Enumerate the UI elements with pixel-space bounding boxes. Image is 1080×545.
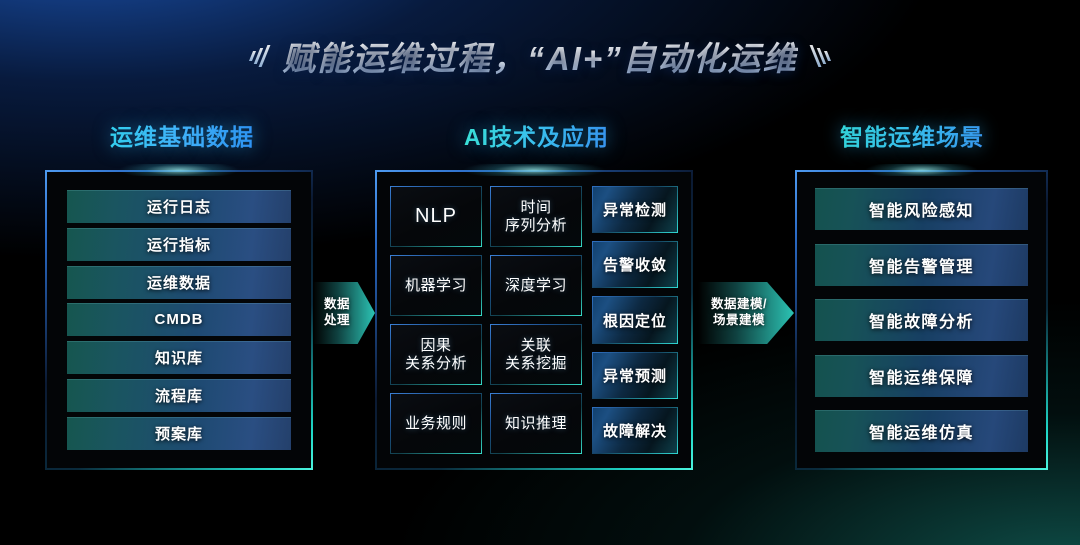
ai-technique-grid: NLP 时间 序列分析 机器学习 深度学习 因果 关系分析 关联 关系挖掘 业务…: [390, 186, 582, 454]
capability-label: 异常检测: [603, 199, 667, 220]
technique-label: 业务规则: [405, 415, 467, 433]
technique-cell[interactable]: 因果 关系分析: [390, 324, 482, 385]
technique-label: 时间 序列分析: [505, 199, 567, 234]
list-item[interactable]: 运行日志: [67, 190, 291, 223]
scenario-label: 智能故障分析: [869, 308, 974, 332]
scenario-label: 智能风险感知: [869, 197, 974, 221]
ai-tech-content: NLP 时间 序列分析 机器学习 深度学习 因果 关系分析 关联 关系挖掘 业务…: [390, 186, 678, 454]
capability-item[interactable]: 告警收敛: [592, 241, 678, 288]
column-heading-left: 运维基础数据: [110, 118, 254, 152]
technique-label: 关联 关系挖掘: [505, 337, 567, 372]
list-item[interactable]: 预案库: [67, 417, 291, 450]
technique-label: 因果 关系分析: [405, 337, 467, 372]
column-heading-left-label: 运维基础数据: [110, 124, 254, 150]
column-heading-right: 智能运维场景: [840, 118, 984, 152]
page-title: 赋能运维过程，“AI+”自动化运维: [282, 32, 797, 80]
panel-ai-tech: NLP 时间 序列分析 机器学习 深度学习 因果 关系分析 关联 关系挖掘 业务…: [375, 170, 693, 470]
column-heading-middle-label: AI技术及应用: [464, 124, 609, 150]
column-heading-right-label: 智能运维场景: [840, 124, 984, 150]
connector-label: 数据建模/ 场景建模: [711, 297, 781, 328]
capability-item[interactable]: 根因定位: [592, 296, 678, 343]
slide-canvas: 赋能运维过程，“AI+”自动化运维 运维基础数据 AI技术及应用 智能运维场景 …: [0, 0, 1080, 545]
scenario-item[interactable]: 智能运维仿真: [815, 410, 1028, 452]
list-item[interactable]: 知识库: [67, 341, 291, 374]
list-item-label: 流程库: [155, 385, 203, 406]
capability-item[interactable]: 异常检测: [592, 186, 678, 233]
scenario-label: 智能运维仿真: [869, 419, 974, 443]
aiops-scenario-list: 智能风险感知 智能告警管理 智能故障分析 智能运维保障 智能运维仿真: [815, 188, 1028, 452]
list-item-label: 预案库: [155, 423, 203, 444]
technique-cell[interactable]: NLP: [390, 186, 482, 247]
technique-label: 深度学习: [505, 277, 567, 295]
technique-cell[interactable]: 知识推理: [490, 393, 582, 454]
capability-item[interactable]: 故障解决: [592, 407, 678, 454]
list-item-label: 运行指标: [147, 234, 211, 255]
technique-label: 机器学习: [405, 277, 467, 295]
list-item-label: 运行日志: [147, 196, 211, 217]
panel-ops-base-data: 运行日志 运行指标 运维数据 CMDB 知识库 流程库 预案库: [45, 170, 313, 470]
technique-cell[interactable]: 关联 关系挖掘: [490, 324, 582, 385]
list-item[interactable]: 流程库: [67, 379, 291, 412]
panel-middle-inner: NLP 时间 序列分析 机器学习 深度学习 因果 关系分析 关联 关系挖掘 业务…: [377, 172, 691, 468]
title-right-decoration-icon: [814, 45, 829, 67]
scenario-item[interactable]: 智能故障分析: [815, 299, 1028, 341]
capability-label: 异常预测: [603, 365, 667, 386]
technique-cell[interactable]: 机器学习: [390, 255, 482, 316]
scenario-label: 智能运维保障: [869, 364, 974, 388]
technique-cell[interactable]: 业务规则: [390, 393, 482, 454]
ai-capability-list: 异常检测 告警收敛 根因定位 异常预测 故障解决: [592, 186, 678, 454]
technique-cell[interactable]: 时间 序列分析: [490, 186, 582, 247]
list-item-label: CMDB: [155, 311, 204, 328]
list-item[interactable]: CMDB: [67, 303, 291, 336]
slide-title-row: 赋能运维过程，“AI+”自动化运维: [0, 28, 1080, 84]
list-item-label: 运维数据: [147, 272, 211, 293]
scenario-item[interactable]: 智能告警管理: [815, 244, 1028, 286]
title-left-decoration-icon: [251, 45, 266, 67]
panel-aiops-scenarios: 智能风险感知 智能告警管理 智能故障分析 智能运维保障 智能运维仿真: [795, 170, 1048, 470]
scenario-label: 智能告警管理: [869, 253, 974, 277]
capability-label: 告警收敛: [603, 254, 667, 275]
scenario-item[interactable]: 智能运维保障: [815, 355, 1028, 397]
panel-right-inner: 智能风险感知 智能告警管理 智能故障分析 智能运维保障 智能运维仿真: [797, 172, 1046, 468]
capability-label: 故障解决: [603, 420, 667, 441]
technique-label: NLP: [415, 205, 457, 229]
connector-data-processing: 数据 处理: [313, 282, 375, 344]
list-item[interactable]: 运行指标: [67, 228, 291, 261]
technique-label: 知识推理: [505, 415, 567, 433]
technique-cell[interactable]: 深度学习: [490, 255, 582, 316]
panel-left-inner: 运行日志 运行指标 运维数据 CMDB 知识库 流程库 预案库: [47, 172, 311, 468]
capability-label: 根因定位: [603, 310, 667, 331]
capability-item[interactable]: 异常预测: [592, 352, 678, 399]
ops-base-data-list: 运行日志 运行指标 运维数据 CMDB 知识库 流程库 预案库: [67, 190, 291, 450]
list-item-label: 知识库: [155, 347, 203, 368]
list-item[interactable]: 运维数据: [67, 266, 291, 299]
scenario-item[interactable]: 智能风险感知: [815, 188, 1028, 230]
connector-label: 数据 处理: [324, 297, 364, 328]
connector-data-modeling: 数据建模/ 场景建模: [698, 282, 794, 344]
column-heading-middle: AI技术及应用: [464, 118, 609, 152]
